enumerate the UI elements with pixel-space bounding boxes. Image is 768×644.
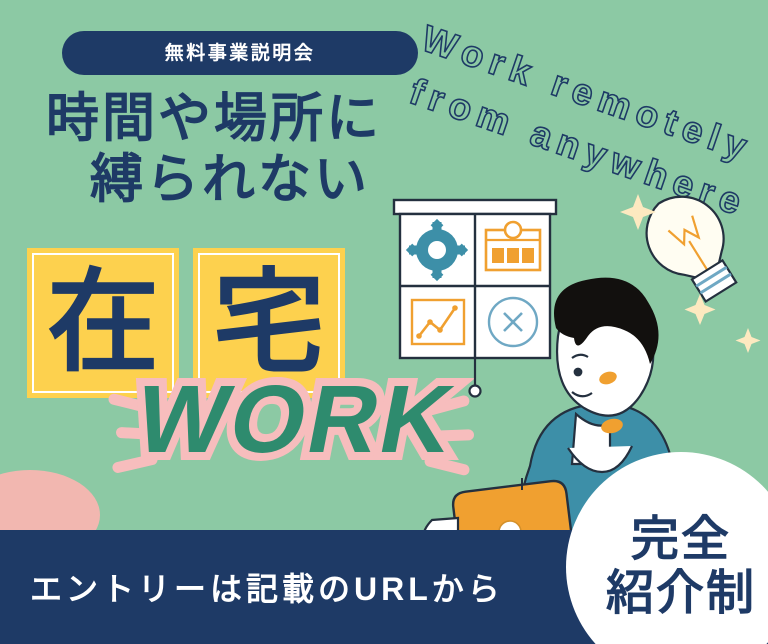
pull-cord-icon <box>470 358 481 397</box>
referral-badge-line-2: 紹介制 <box>606 567 756 621</box>
kanji-box-zai: 在 <box>27 248 179 398</box>
kanji-box-taku: 宅 <box>193 248 345 398</box>
headline-line-1: 時間や場所に <box>46 89 382 148</box>
bottom-cta-label: エントリーは記載のURLから <box>30 564 504 610</box>
lightbulb-icon <box>631 181 746 302</box>
kanji-char-zai: 在 <box>47 267 159 379</box>
poster-root: 無料事業説明会 時間や場所に 縛られない Work remotely from … <box>0 0 768 644</box>
free-seminar-badge: 無料事業説明会 <box>62 31 418 75</box>
kanji-char-taku: 宅 <box>213 267 325 379</box>
whiteboard-icon <box>394 200 556 397</box>
referral-badge-line-1: 完全 <box>631 513 731 567</box>
free-seminar-badge-label: 無料事業説明会 <box>165 44 316 63</box>
